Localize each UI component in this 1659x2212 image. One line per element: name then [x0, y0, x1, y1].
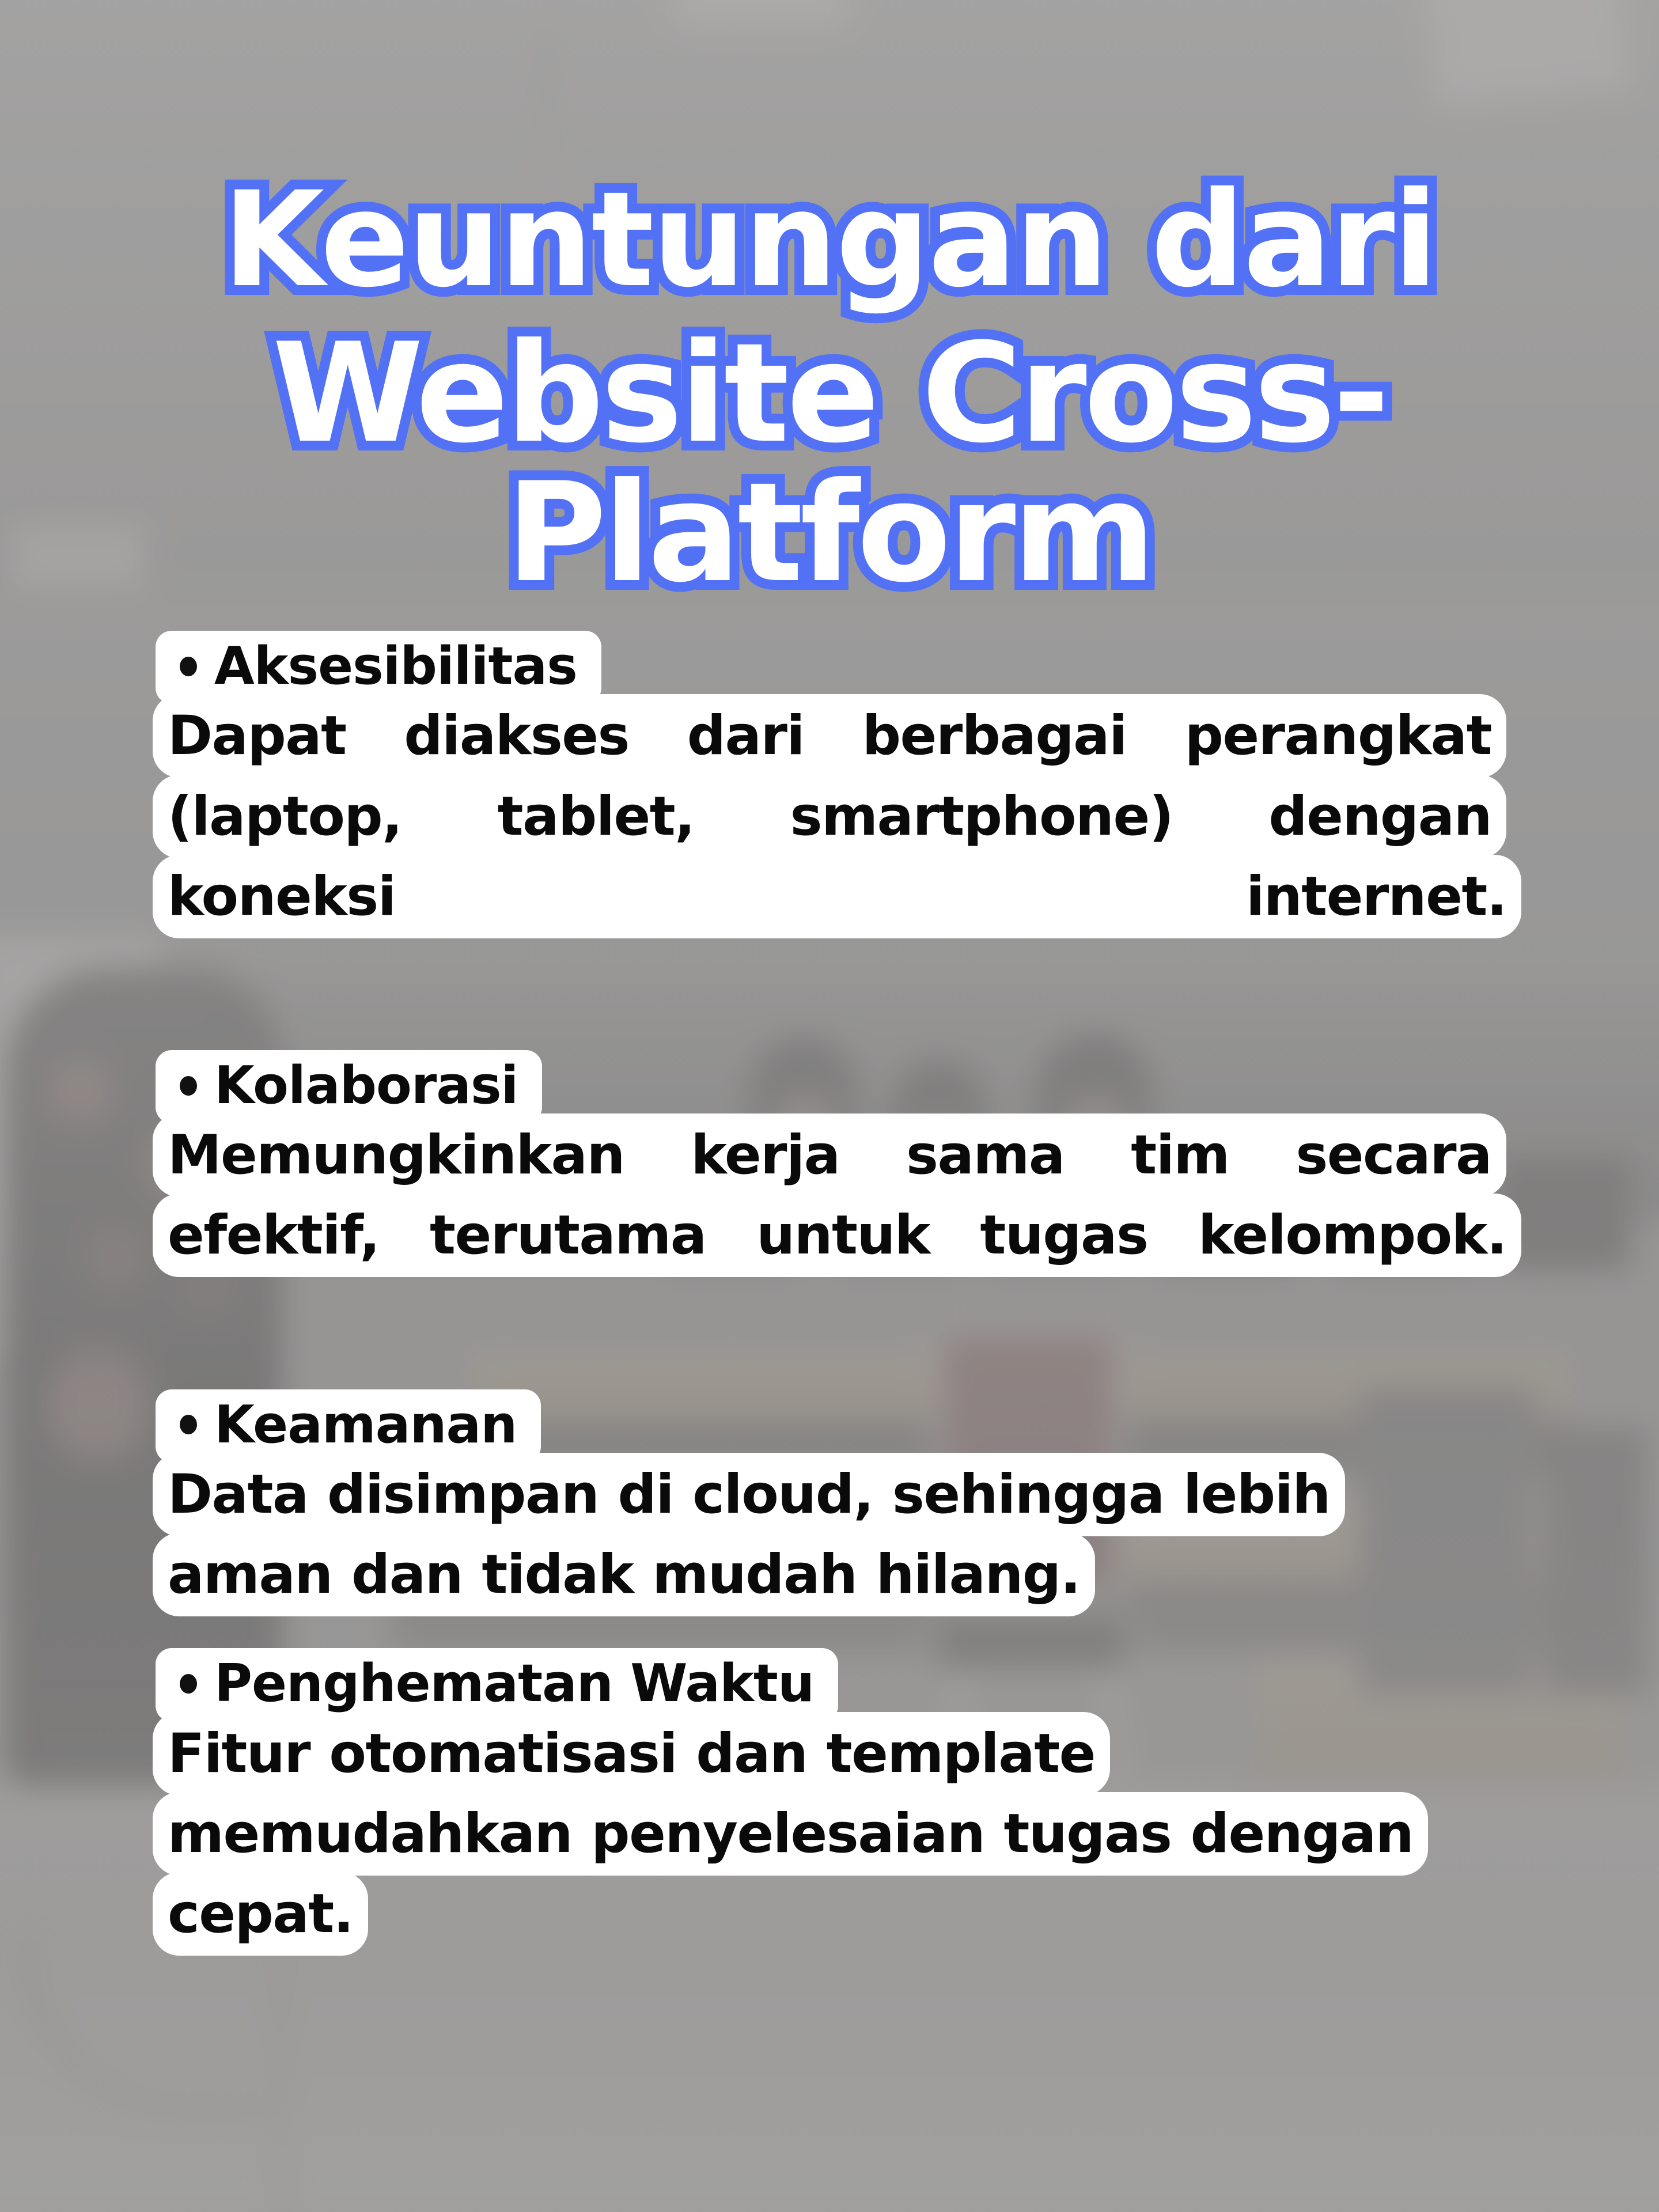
slide-root: Keuntungan dari Website Cross-Platform A…	[0, 0, 1659, 2212]
benefit-heading-chip: Penghematan Waktu	[156, 1648, 838, 1721]
benefit-body-text: Data disimpan di cloud, sehingga lebih a…	[153, 1453, 1345, 1616]
title-line-1: Keuntungan dari	[0, 173, 1659, 307]
benefit-item: Aksesibilitas Dapat diakses dari berbaga…	[0, 631, 1659, 1017]
benefit-heading: Penghematan Waktu	[214, 1656, 814, 1711]
benefit-item: Penghematan Waktu Fitur otomatisasi dan …	[0, 1648, 1659, 1954]
bullet-dot-icon	[180, 657, 197, 676]
benefit-body-box: Fitur otomatisasi dan template memudahka…	[153, 1714, 1506, 1954]
benefit-list: Aksesibilitas Dapat diakses dari berbaga…	[0, 631, 1659, 1987]
page-title: Keuntungan dari Website Cross-Platform	[0, 173, 1659, 604]
benefit-heading-chip: Kolaborasi	[156, 1050, 542, 1123]
benefit-heading: Kolaborasi	[214, 1058, 518, 1113]
title-line-2: Website Cross-Platform	[0, 324, 1659, 604]
bullet-dot-icon	[180, 1674, 197, 1694]
slide-content: Keuntungan dari Website Cross-Platform A…	[0, 0, 1659, 2212]
benefit-body-box: Data disimpan di cloud, sehingga lebih a…	[153, 1455, 1506, 1615]
benefit-body-box: Dapat diakses dari berbagai perangkat (l…	[153, 696, 1506, 1016]
benefit-item: Keamanan Data disimpan di cloud, sehingg…	[0, 1389, 1659, 1615]
benefit-body: Data disimpan di cloud, sehingga lebih a…	[153, 1455, 1506, 1615]
benefit-body-box: Memungkinkan kerja sama tim secara efekt…	[153, 1115, 1506, 1355]
benefit-body-text: Fitur otomatisasi dan template memudahka…	[153, 1712, 1428, 1956]
benefit-heading-chip: Keamanan	[156, 1389, 541, 1463]
benefit-heading-chip: Aksesibilitas	[156, 631, 601, 704]
bullet-dot-icon	[180, 1415, 197, 1434]
benefit-body: Dapat diakses dari berbagai perangkat (l…	[153, 696, 1506, 1016]
benefit-body: Fitur otomatisasi dan template memudahka…	[153, 1714, 1506, 1954]
benefit-body: Memungkinkan kerja sama tim secara efekt…	[153, 1115, 1506, 1355]
benefit-body-text: Dapat diakses dari berbagai perangkat (l…	[153, 694, 1521, 938]
benefit-heading: Keamanan	[214, 1397, 517, 1452]
benefit-item: Kolaborasi Memungkinkan kerja sama tim s…	[0, 1050, 1659, 1356]
benefit-heading: Aksesibilitas	[214, 639, 577, 694]
benefit-body-text: Memungkinkan kerja sama tim secara efekt…	[153, 1113, 1521, 1277]
bullet-dot-icon	[180, 1076, 197, 1096]
